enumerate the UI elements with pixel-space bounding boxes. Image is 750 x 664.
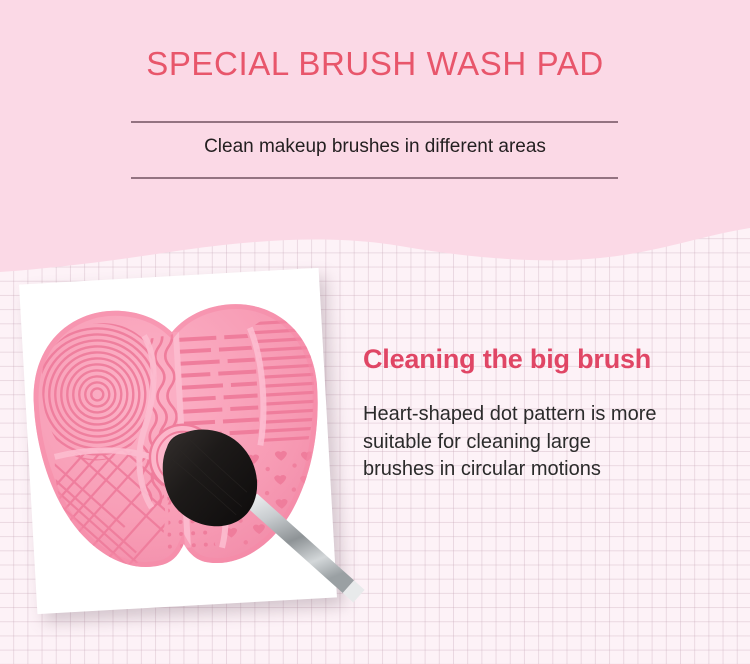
divider-top xyxy=(131,121,618,123)
poster-header: SPECIAL BRUSH WASH PAD Clean makeup brus… xyxy=(0,0,750,200)
product-photo xyxy=(19,268,337,614)
product-feature-poster: SPECIAL BRUSH WASH PAD Clean makeup brus… xyxy=(0,0,750,664)
page-subtitle: Clean makeup brushes in different areas xyxy=(0,136,750,158)
feature-copy-block: Cleaning the big brush Heart-shaped dot … xyxy=(363,344,718,484)
page-title: SPECIAL BRUSH WASH PAD xyxy=(0,45,750,83)
makeup-brush-illustration xyxy=(145,414,371,621)
feature-body-line: suitable for cleaning large xyxy=(363,429,718,457)
feature-heading: Cleaning the big brush xyxy=(363,344,718,375)
feature-body-line: brushes in circular motions xyxy=(363,456,718,484)
feature-body-line: Heart-shaped dot pattern is more xyxy=(363,401,718,429)
divider-bottom xyxy=(131,177,618,179)
feature-body: Heart-shaped dot pattern is more suitabl… xyxy=(363,401,718,484)
